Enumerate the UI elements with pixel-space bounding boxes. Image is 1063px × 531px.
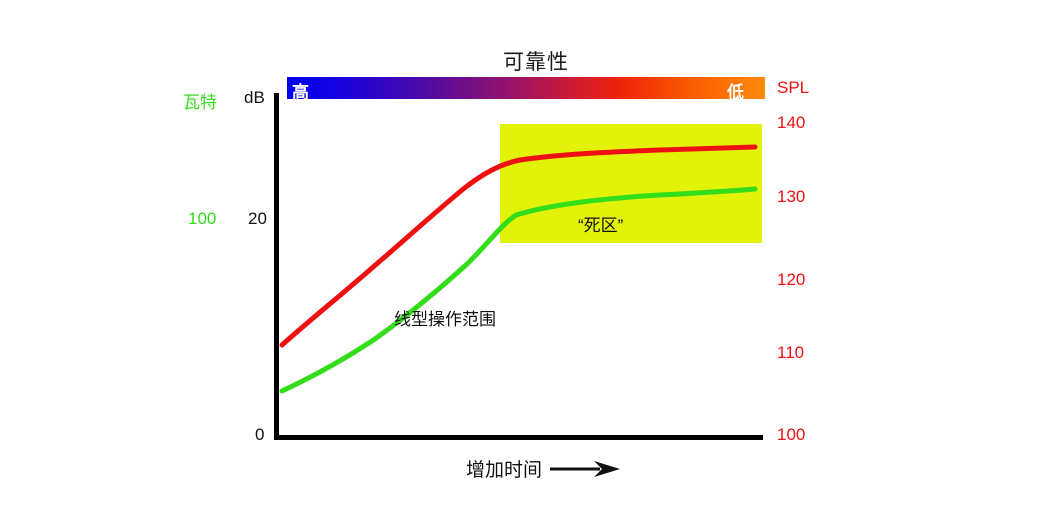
- arrow-right-icon: [550, 459, 620, 479]
- watt-curve: [282, 189, 755, 391]
- right-axis-spl-tick-120: 120: [777, 270, 805, 290]
- left-axis-watt-tick-100: 100: [188, 209, 216, 229]
- left-axis-db-unit: dB: [244, 88, 265, 108]
- left-axis-db-tick-20: 20: [248, 209, 267, 229]
- right-axis-spl-tick-100: 100: [777, 425, 805, 445]
- right-axis-spl-tick-140: 140: [777, 113, 805, 133]
- right-axis-spl-tick-110: 110: [777, 343, 804, 363]
- left-axis-watt-unit: 瓦特: [183, 88, 217, 113]
- series-curves: [0, 0, 1063, 531]
- linear-range-label: 线型操作范围: [394, 305, 496, 330]
- x-axis-caption-text: 增加时间: [466, 455, 542, 482]
- right-axis-spl-unit: SPL: [777, 78, 809, 98]
- right-axis-spl-tick-130: 130: [777, 187, 805, 207]
- chart-canvas: 可靠性 高 低 “死区” 线型操作范围 瓦特 dB 100 20 0 SPL 1…: [0, 0, 1063, 531]
- left-axis-db-tick-0: 0: [255, 425, 264, 445]
- x-axis-caption: 增加时间: [466, 455, 620, 482]
- spl-curve: [282, 147, 755, 345]
